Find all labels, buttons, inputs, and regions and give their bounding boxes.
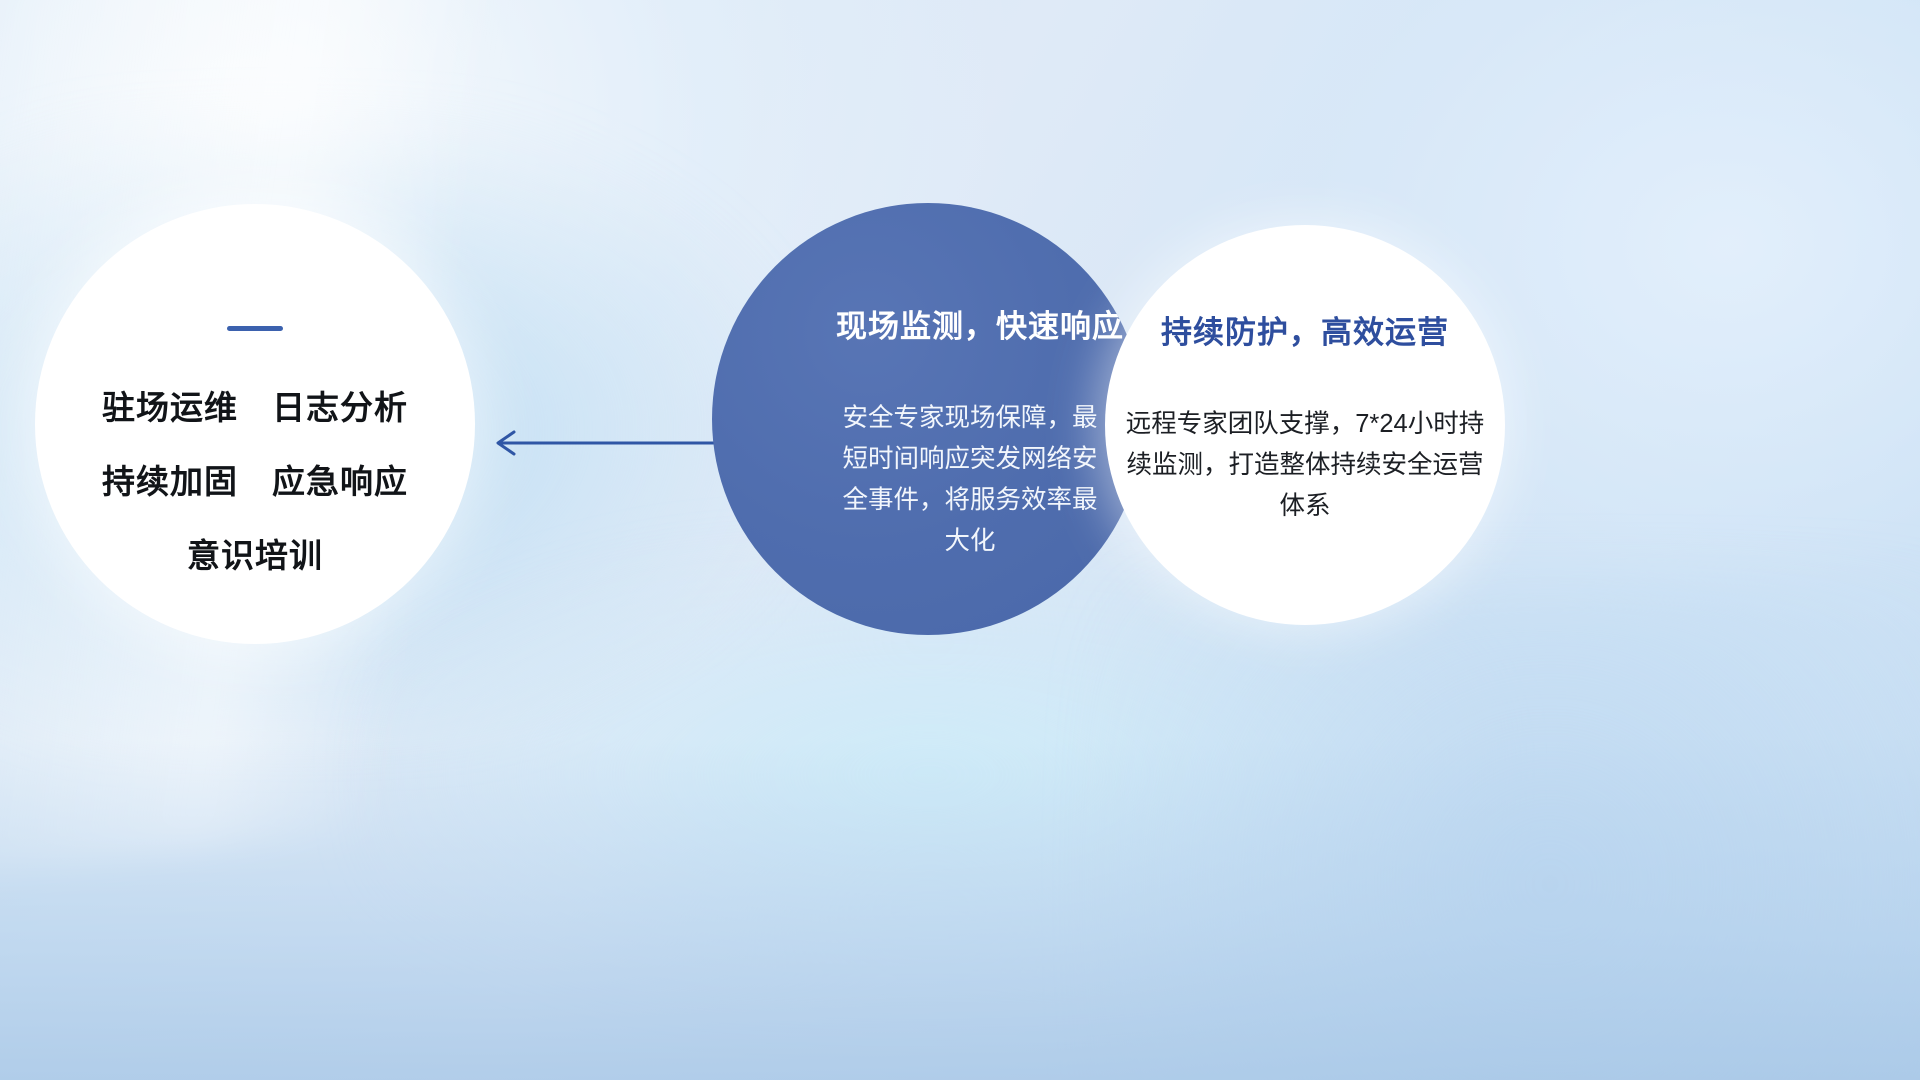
capability-list: 驻场运维 日志分析 持续加固 应急响应 意识培训	[102, 381, 408, 577]
onsite-monitoring-title: 现场监测，快速响应	[836, 301, 1124, 346]
capability-item: 日志分析	[272, 381, 408, 429]
capability-row: 意识培训	[187, 529, 323, 577]
continuous-protection-circle: 持续防护，高效运营 远程专家团队支撑，7*24小时持续监测，打造整体持续安全运营…	[1105, 225, 1505, 625]
onsite-monitoring-body: 安全专家现场保障，最短时间响应突发网络安全事件，将服务效率最大化	[831, 398, 1109, 562]
capability-item: 驻场运维	[102, 381, 238, 429]
onsite-monitoring-circle: 现场监测，快速响应 安全专家现场保障，最短时间响应突发网络安全事件，将服务效率最…	[712, 203, 1144, 635]
continuous-protection-body: 远程专家团队支撑，7*24小时持续监测，打造整体持续安全运营体系	[1125, 404, 1485, 527]
continuous-protection-title: 持续防护，高效运营	[1161, 307, 1449, 352]
background-bottom-shade	[0, 740, 1920, 1080]
capability-row: 持续加固 应急响应	[102, 455, 408, 503]
capability-item: 应急响应	[272, 455, 408, 503]
capability-item: 意识培训	[187, 529, 323, 577]
divider-dash	[227, 326, 283, 331]
left-arrow-icon	[480, 425, 720, 461]
capability-item: 持续加固	[102, 455, 238, 503]
left-capability-circle: 驻场运维 日志分析 持续加固 应急响应 意识培训	[35, 204, 475, 644]
capability-row: 驻场运维 日志分析	[102, 381, 408, 429]
